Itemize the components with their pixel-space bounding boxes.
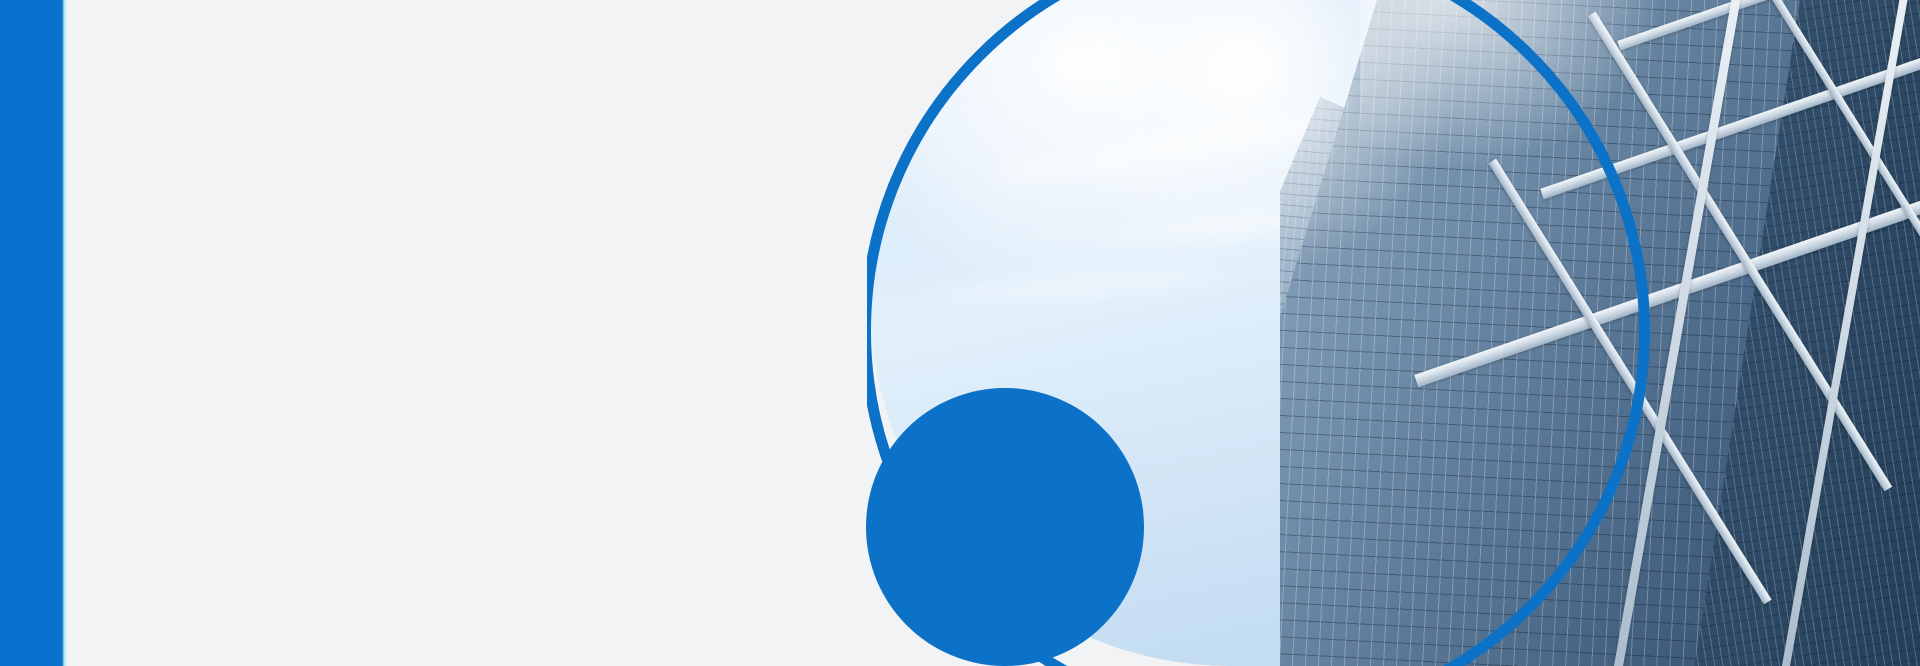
fintech-services-banner: CollectSwift FINTECH SERVICES We provide… (0, 0, 1920, 666)
decorative-blue-circle (866, 388, 1144, 666)
content-panel (67, 0, 867, 666)
left-accent-bar (0, 0, 62, 666)
left-accent-bar-edge (62, 0, 67, 666)
